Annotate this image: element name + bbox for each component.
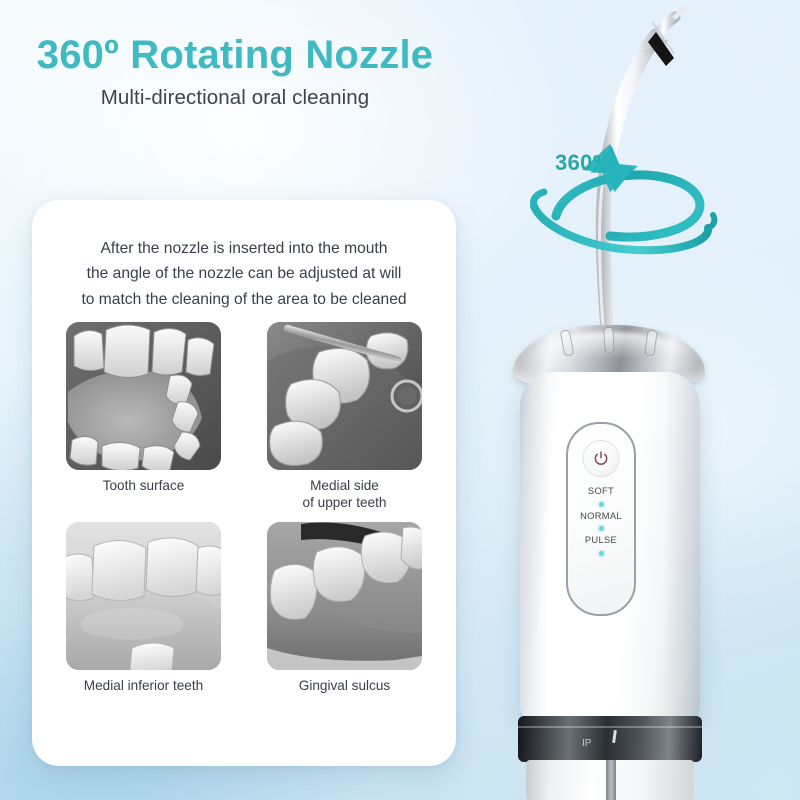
mode-indicator-list: SOFT NORMAL PULSE [568,486,634,560]
mode-soft[interactable]: SOFT [568,486,634,507]
photo-cell: Medial side of upper teeth [255,322,434,512]
photo-grid: Tooth surface [54,322,434,694]
tank-collar [518,716,702,762]
page-title: 360º Rotating Nozzle [0,34,470,76]
info-card: After the nozzle is inserted into the mo… [32,200,456,766]
photo-medial-inferior-teeth [66,522,221,670]
mode-label: PULSE [585,535,617,547]
mode-label: NORMAL [580,511,622,523]
tank-marking: IP [582,738,591,749]
rotation-badge: 360º [555,150,601,176]
caption-line: Gingival sulcus [299,677,390,694]
description-line-1: After the nozzle is inserted into the mo… [58,236,430,261]
photo-caption: Tooth surface [103,477,185,494]
mode-led-soft [599,502,604,507]
caption-line: of upper teeth [303,494,387,511]
cap-vent-slot [603,327,614,353]
photo-gingival-sulcus [267,522,422,670]
photo-caption: Gingival sulcus [299,677,390,694]
power-icon [593,450,610,467]
product-device: 360º SOFT NORMAL [470,0,800,800]
mode-pulse[interactable]: PULSE [568,535,634,556]
card-description: After the nozzle is inserted into the mo… [32,200,456,312]
mode-label: SOFT [588,486,614,498]
control-panel[interactable]: SOFT NORMAL PULSE [566,422,636,616]
description-line-2: the angle of the nozzle can be adjusted … [58,261,430,286]
caption-line: Medial inferior teeth [84,677,203,694]
tank-collar-seam [518,726,702,728]
product-infographic: 360º Rotating Nozzle Multi-directional o… [0,0,800,800]
photo-caption: Medial side of upper teeth [303,477,387,512]
photo-caption: Medial inferior teeth [84,677,203,694]
water-tank-stem [606,760,616,800]
photo-cell: Gingival sulcus [255,522,434,694]
rotation-arrow-icon [470,120,800,270]
power-button[interactable] [584,441,619,476]
header: 360º Rotating Nozzle Multi-directional o… [0,34,470,110]
mode-normal[interactable]: NORMAL [568,511,634,532]
description-line-3: to match the cleaning of the area to be … [58,287,430,312]
page-subtitle: Multi-directional oral cleaning [0,86,470,110]
mode-led-pulse [599,551,604,556]
caption-line: Medial side [303,477,387,494]
caption-line: Tooth surface [103,477,185,494]
photo-cell: Medial inferior teeth [54,522,233,694]
photo-cell: Tooth surface [54,322,233,512]
photo-tooth-surface [66,322,221,470]
mode-led-normal [599,526,604,531]
photo-medial-upper-teeth [267,322,422,470]
